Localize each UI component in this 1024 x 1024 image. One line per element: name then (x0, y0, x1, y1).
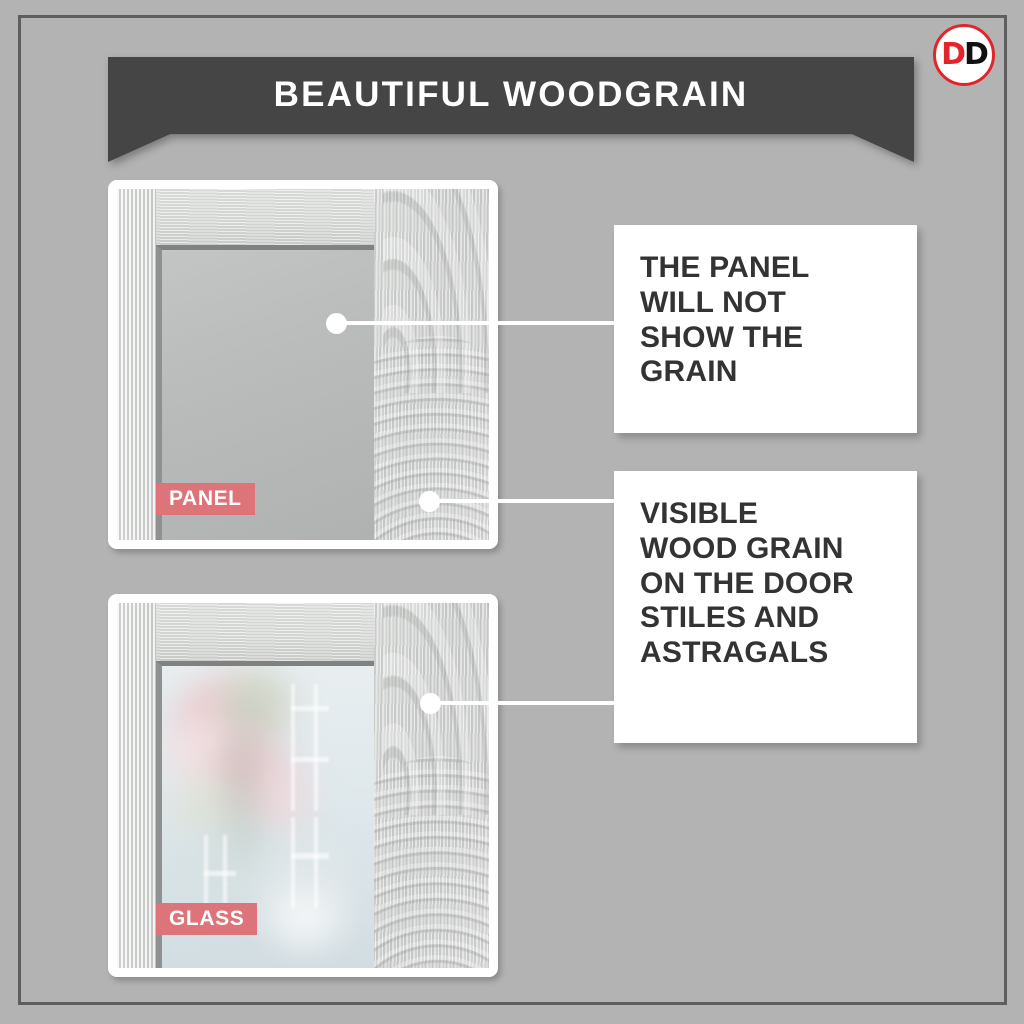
leader-dot-grain-bottom[interactable] (420, 693, 441, 714)
leader-line-grain-top (433, 499, 616, 503)
window-reflection (291, 817, 294, 907)
door-left-stile-moulding (117, 603, 156, 968)
door-left-stile-moulding (117, 189, 156, 540)
leader-line-grain-bottom (434, 701, 616, 705)
woodgrain-stile (374, 189, 489, 540)
page-title: BEAUTIFUL WOODGRAIN (274, 57, 749, 112)
glass-blur-blob (226, 703, 260, 860)
glass-blur-blob (272, 890, 335, 944)
panel-caption-chip: PANEL (156, 483, 255, 515)
logo-letter-one: D (941, 37, 964, 72)
window-reflection (291, 757, 329, 762)
logo-lettermark: DD (941, 40, 987, 70)
woodgrain-stile (374, 603, 489, 968)
panel-callout-card: THE PANEL WILL NOT SHOW THE GRAIN (614, 225, 917, 433)
grain-callout-text: VISIBLE WOOD GRAIN ON THE DOOR STILES AN… (640, 497, 895, 671)
title-ribbon: BEAUTIFUL WOODGRAIN (108, 57, 914, 162)
panel-callout-text: THE PANEL WILL NOT SHOW THE GRAIN (640, 251, 895, 390)
ribbon-shape: BEAUTIFUL WOODGRAIN (108, 57, 914, 162)
leader-dot-grain-top[interactable] (419, 491, 440, 512)
window-reflection (291, 706, 329, 711)
window-reflection (204, 871, 236, 876)
glass-caption-chip: GLASS (156, 903, 257, 935)
grain-callout-card: VISIBLE WOOD GRAIN ON THE DOOR STILES AN… (614, 471, 917, 743)
leader-line-panel (340, 321, 616, 325)
logo-letter-two: D (964, 37, 987, 72)
leader-dot-panel[interactable] (326, 313, 347, 334)
dd-logo[interactable]: DD (933, 24, 995, 86)
infographic-canvas: DD BEAUTIFUL WOODGRAIN (0, 0, 1024, 1024)
window-reflection (291, 853, 329, 858)
window-reflection (314, 684, 317, 811)
window-reflection (291, 684, 294, 811)
window-reflection (314, 817, 317, 907)
